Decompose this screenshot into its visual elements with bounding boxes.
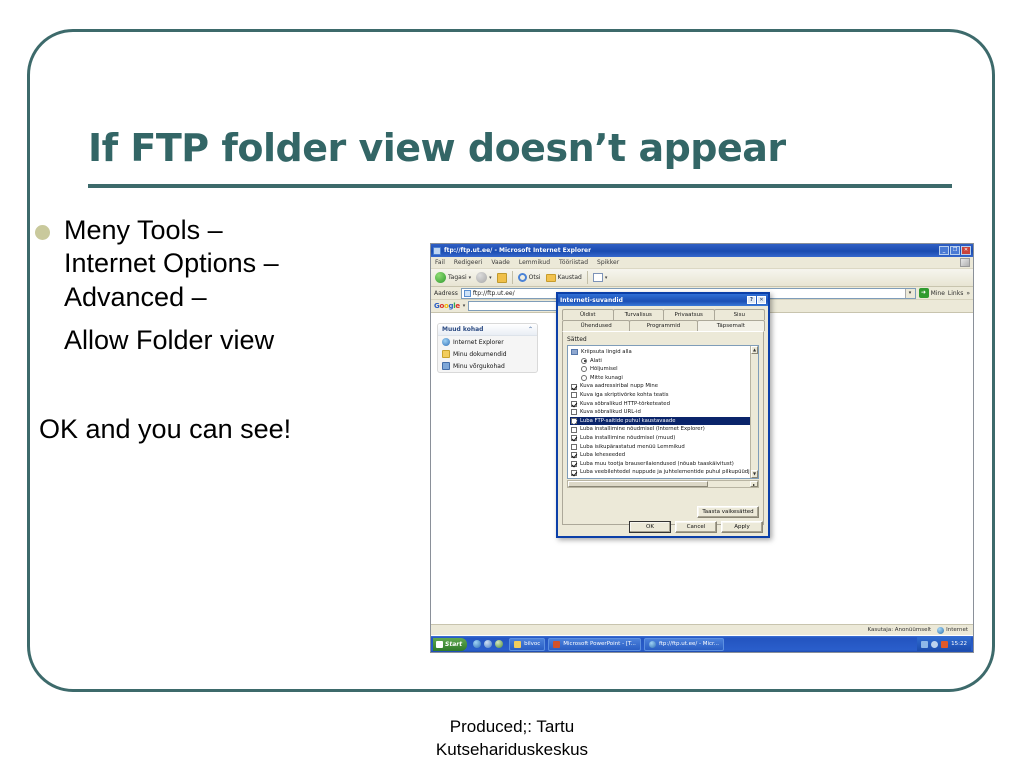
dialog-title-bar: Interneti-suvandid ? ✕ — [558, 294, 768, 306]
tray-volume-icon[interactable] — [931, 641, 938, 648]
google-logo: Google — [434, 302, 460, 310]
taskbar-item-ie[interactable]: ftp://ftp.ut.ee/ - Micr... — [644, 638, 724, 651]
dialog-help-button[interactable]: ? — [747, 296, 756, 304]
up-button[interactable] — [497, 273, 507, 283]
list-item-label: Kuva aadressiribal nupp Mine — [580, 382, 658, 391]
radio-icon[interactable] — [581, 366, 587, 372]
internet-explorer-icon — [442, 338, 450, 346]
internet-explorer-icon — [649, 641, 656, 648]
list-item[interactable]: Kuva iga skriptivõrke kohta teatis — [570, 391, 756, 400]
list-item[interactable]: Mitte kunagi — [570, 374, 756, 383]
windows-taskbar: Start bilvoc Microsoft PowerPoint - [T..… — [431, 636, 973, 652]
taskbar-label-1: bilvoc — [524, 641, 540, 647]
scroll-up-button[interactable]: ▲ — [751, 346, 758, 354]
views-button[interactable]: ▾ — [593, 273, 608, 282]
menu-item-lemmikud[interactable]: Lemmikud — [519, 259, 550, 266]
back-button[interactable]: Tagasi ▾ — [435, 272, 471, 283]
radio-icon[interactable] — [581, 375, 587, 381]
ie-window-title: ftp://ftp.ut.ee/ - Microsoft Internet Ex… — [444, 247, 591, 254]
restore-defaults-button[interactable]: Taasta vaikesätted — [697, 506, 759, 518]
tab-uhendused[interactable]: Ühendused — [562, 320, 630, 331]
taskbar-clock[interactable]: 15:22 — [951, 641, 967, 647]
footer-line-1: Produced;: Tartu — [0, 716, 1024, 739]
menu-item-vaade[interactable]: Vaade — [491, 259, 510, 266]
list-item-label: Luba muu tootja brauserilaiendused (nõua… — [580, 460, 734, 469]
ok-button[interactable]: OK — [629, 521, 671, 533]
category-icon — [571, 349, 578, 355]
listbox-horizontal-scrollbar[interactable]: ▸ — [567, 480, 759, 488]
quick-launch-ie-icon[interactable] — [473, 640, 481, 648]
checkbox-icon[interactable] — [571, 418, 577, 424]
cancel-button[interactable]: Cancel — [675, 521, 717, 533]
list-item[interactable]: Luba ühenduseta üksuste ajastatud sünkro… — [570, 477, 756, 479]
radio-icon[interactable] — [581, 358, 587, 364]
embedded-screenshot: ftp://ftp.ut.ee/ - Microsoft Internet Ex… — [430, 243, 974, 653]
list-item-label: Luba leheseeded — [580, 451, 625, 460]
place-item-network-places[interactable]: Minu võrgukohad — [438, 360, 537, 372]
list-item-label: Luba ühenduseta üksuste ajastatud sünkro… — [580, 477, 716, 479]
other-places-title: Muud kohad — [442, 326, 483, 333]
ie-window-buttons: _ ❐ ✕ — [939, 246, 971, 255]
scroll-down-button[interactable]: ▼ — [751, 470, 758, 478]
dialog-title-buttons: ? ✕ — [747, 296, 766, 304]
checkbox-icon[interactable] — [571, 435, 577, 441]
list-item-label: Kuva sõbralikud URL-id — [580, 408, 641, 417]
go-arrow-icon: ➜ — [919, 288, 929, 298]
back-arrow-icon — [435, 272, 446, 283]
list-item[interactable]: Luba installimine nõudmisel (muud) — [570, 434, 756, 443]
views-dropdown-icon[interactable]: ▾ — [605, 275, 608, 281]
list-item-label: Luba installimine nõudmisel (muud) — [580, 434, 675, 443]
google-menu-icon[interactable]: ▾ — [463, 303, 466, 309]
quick-launch-media-icon[interactable] — [495, 640, 503, 648]
other-places-header[interactable]: Muud kohad ⌃ — [438, 324, 537, 336]
back-label: Tagasi — [448, 274, 467, 281]
list-item[interactable]: Luba muu tootja brauserilaiendused (nõua… — [570, 460, 756, 469]
bullet-text: Meny Tools – Internet Options – Advanced… — [64, 214, 279, 314]
list-item-label: Kriipsuta lingid alla — [581, 348, 632, 357]
list-item-label: Kuva iga skriptivõrke kohta teatis — [580, 391, 669, 400]
status-user-label: Kasutaja: Anonüümselt — [868, 627, 932, 633]
ie-sidebar: Muud kohad ⌃ Internet Explorer Minu doku… — [431, 315, 543, 619]
apply-button[interactable]: Apply — [721, 521, 763, 533]
settings-list: Kriipsuta lingid alla Alati Hõljumisel — [568, 346, 758, 479]
taskbar-label-3: ftp://ftp.ut.ee/ - Micr... — [659, 641, 719, 647]
address-dropdown-icon[interactable]: ▾ — [905, 289, 915, 298]
list-item[interactable]: Hõljumisel — [570, 365, 756, 374]
ie-window-icon — [433, 247, 441, 255]
dialog-title: Interneti-suvandid — [560, 297, 623, 304]
list-item[interactable]: Luba leheseeded — [570, 451, 756, 460]
page-title: If FTP folder view doesn’t appear — [88, 126, 958, 170]
address-site-icon — [464, 290, 471, 297]
search-label: Otsi — [529, 274, 541, 281]
footer: Produced;: Tartu Kutsehariduskeskus — [0, 716, 1024, 762]
menu-item-redigeeri[interactable]: Redigeeri — [454, 259, 482, 266]
tab-sisu[interactable]: Sisu — [714, 309, 766, 320]
toolbar-separator — [512, 271, 513, 284]
links-overflow-icon[interactable]: » — [966, 290, 970, 297]
quick-launch-bar — [470, 640, 506, 648]
checkbox-icon[interactable] — [571, 478, 577, 479]
internet-options-dialog: Interneti-suvandid ? ✕ Üldist Turvalisus… — [556, 292, 770, 538]
minimize-button[interactable]: _ — [939, 246, 949, 255]
settings-label: Sätted — [567, 336, 759, 343]
place-item-internet-explorer[interactable]: Internet Explorer — [438, 336, 537, 348]
list-item-label: Kuva sõbralikud HTTP-tõrketeated — [580, 400, 670, 409]
status-zone-label: Internet — [946, 627, 968, 633]
folders-label: Kaustad — [558, 274, 582, 281]
checkbox-icon[interactable] — [571, 392, 577, 398]
forward-dropdown-icon[interactable]: ▾ — [489, 275, 492, 281]
ie-logo-icon — [960, 258, 970, 267]
powerpoint-icon — [553, 641, 560, 648]
go-button[interactable]: ➜ Mine — [919, 288, 945, 298]
body-content: Meny Tools – Internet Options – Advanced… — [35, 214, 430, 445]
tab-tapsemalt[interactable]: Täpsemalt — [697, 320, 765, 331]
checkbox-icon[interactable] — [571, 401, 577, 407]
restore-defaults-row: Taasta vaikesätted — [567, 506, 759, 518]
settings-listbox[interactable]: Kriipsuta lingid alla Alati Hõljumisel — [567, 345, 759, 479]
windows-flag-icon — [436, 641, 443, 648]
dialog-tabs: Üldist Turvalisus Privaatsus Sisu Ühendu… — [558, 306, 768, 331]
dialog-tab-row-2: Ühendused Programmid Täpsemalt — [562, 320, 764, 331]
start-label: Start — [445, 641, 462, 648]
folder-icon — [514, 641, 521, 648]
dialog-tab-row-1: Üldist Turvalisus Privaatsus Sisu — [562, 309, 764, 320]
bullet-line-1: Meny Tools – — [64, 214, 279, 247]
footer-line-2: Kutsehariduskeskus — [0, 739, 1024, 762]
list-item[interactable]: Luba veebilehtedel nuppude ja juhtelemen… — [570, 468, 756, 477]
h-scroll-right-button[interactable]: ▸ — [750, 481, 758, 487]
address-label: Aadress — [434, 290, 458, 297]
system-tray: 15:22 — [917, 637, 971, 651]
list-item[interactable]: Kuva sõbralikud URL-id — [570, 408, 756, 417]
list-item[interactable]: Kuva sõbralikud HTTP-tõrketeated — [570, 400, 756, 409]
list-item-label: Hõljumisel — [590, 365, 618, 374]
tray-app-icon[interactable] — [941, 641, 948, 648]
list-item-label: Luba isikupärastatud menüü Lemmikud — [580, 443, 685, 452]
status-zone: Internet — [937, 627, 968, 634]
documents-folder-icon — [442, 350, 450, 358]
place-label-3: Minu võrgukohad — [453, 363, 505, 370]
menu-item-fail[interactable]: Fail — [435, 259, 445, 266]
place-label-2: Minu dokumendid — [453, 351, 507, 358]
list-item-label: Luba FTP-saitide puhul kaustavaade — [580, 417, 676, 426]
tray-network-icon[interactable] — [921, 641, 928, 648]
taskbar-item-powerpoint[interactable]: Microsoft PowerPoint - [T... — [548, 638, 641, 651]
list-item[interactable]: Kriipsuta lingid alla — [570, 348, 756, 357]
forward-button[interactable]: ▾ — [476, 272, 492, 283]
list-item-selected[interactable]: Luba FTP-saitide puhul kaustavaade — [570, 417, 756, 426]
tab-programmid[interactable]: Programmid — [629, 320, 697, 331]
search-icon — [518, 273, 527, 282]
links-label[interactable]: Links — [948, 290, 963, 297]
ie-toolbar: Tagasi ▾ ▾ Otsi Kaustad ▾ — [431, 269, 973, 287]
tab-uldist[interactable]: Üldist — [562, 309, 614, 320]
up-folder-icon — [497, 273, 507, 283]
sub-line: Allow Folder view — [64, 325, 430, 356]
views-icon — [593, 273, 603, 282]
go-label: Mine — [931, 290, 945, 297]
checkbox-icon[interactable] — [571, 461, 577, 467]
list-item[interactable]: Alati — [570, 357, 756, 366]
menu-item-spikker[interactable]: Spikker — [597, 259, 619, 266]
internet-zone-icon — [937, 627, 944, 634]
listbox-vertical-scrollbar[interactable]: ▲ ▼ — [750, 346, 758, 478]
bullet-line-3: Advanced – — [64, 281, 279, 314]
folder-icon — [546, 274, 556, 282]
list-item[interactable]: Kuva aadressiribal nupp Mine — [570, 382, 756, 391]
quick-launch-outlook-icon[interactable] — [484, 640, 492, 648]
list-item-label: Luba veebilehtedel nuppude ja juhtelemen… — [580, 468, 758, 477]
list-item-label: Alati — [590, 357, 602, 366]
slide: If FTP folder view doesn’t appear Meny T… — [0, 0, 1024, 768]
dialog-advanced-pane: Sätted Kriipsuta lingid alla Alati — [562, 331, 764, 525]
tab-turvalisus[interactable]: Turvalisus — [613, 309, 665, 320]
checkbox-icon[interactable] — [571, 427, 577, 433]
list-item[interactable]: Luba installimine nõudmisel (Internet Ex… — [570, 425, 756, 434]
place-label-1: Internet Explorer — [453, 339, 504, 346]
checkbox-icon[interactable] — [571, 452, 577, 458]
ie-status-bar: Kasutaja: Anonüümselt Internet — [431, 624, 973, 635]
close-button[interactable]: ✕ — [961, 246, 971, 255]
bullet-dot-icon — [35, 225, 50, 240]
list-item[interactable]: Luba isikupärastatud menüü Lemmikud — [570, 443, 756, 452]
other-places-panel: Muud kohad ⌃ Internet Explorer Minu doku… — [437, 323, 538, 373]
closing-line: OK and you can see! — [39, 414, 430, 445]
network-places-icon — [442, 362, 450, 370]
search-button[interactable]: Otsi — [518, 273, 541, 282]
folders-button[interactable]: Kaustad — [546, 274, 582, 282]
collapse-chevron-icon[interactable]: ⌃ — [528, 326, 533, 333]
menu-item-tooriistad[interactable]: Tööriistad — [559, 259, 588, 266]
checkbox-icon[interactable] — [571, 470, 577, 476]
restore-button[interactable]: ❐ — [950, 246, 960, 255]
back-dropdown-icon[interactable]: ▾ — [469, 275, 472, 281]
toolbar-separator-2 — [587, 271, 588, 284]
dialog-footer: OK Cancel Apply — [558, 521, 768, 533]
checkbox-icon[interactable] — [571, 409, 577, 415]
checkbox-icon[interactable] — [571, 444, 577, 450]
bullet-line-2: Internet Options – — [64, 247, 279, 280]
list-item-label: Mitte kunagi — [590, 374, 623, 383]
ie-menu-bar: Fail Redigeeri Vaade Lemmikud Tööriistad… — [431, 257, 973, 269]
forward-arrow-icon — [476, 272, 487, 283]
status-user: Kasutaja: Anonüümselt — [868, 627, 932, 633]
tab-privaatsus[interactable]: Privaatsus — [663, 309, 715, 320]
dialog-close-button[interactable]: ✕ — [757, 296, 766, 304]
checkbox-icon[interactable] — [571, 384, 577, 390]
address-value: ftp://ftp.ut.ee/ — [473, 290, 515, 297]
h-scroll-thumb[interactable] — [568, 481, 708, 487]
start-button[interactable]: Start — [433, 638, 467, 651]
ie-title-bar: ftp://ftp.ut.ee/ - Microsoft Internet Ex… — [431, 244, 973, 257]
place-item-my-documents[interactable]: Minu dokumendid — [438, 348, 537, 360]
taskbar-label-2: Microsoft PowerPoint - [T... — [563, 641, 636, 647]
title-underline — [88, 184, 952, 188]
title-area: If FTP folder view doesn’t appear — [88, 126, 958, 188]
taskbar-item-bilvoc[interactable]: bilvoc — [509, 638, 545, 651]
bullet-item: Meny Tools – Internet Options – Advanced… — [35, 214, 430, 314]
list-item-label: Luba installimine nõudmisel (Internet Ex… — [580, 425, 705, 434]
